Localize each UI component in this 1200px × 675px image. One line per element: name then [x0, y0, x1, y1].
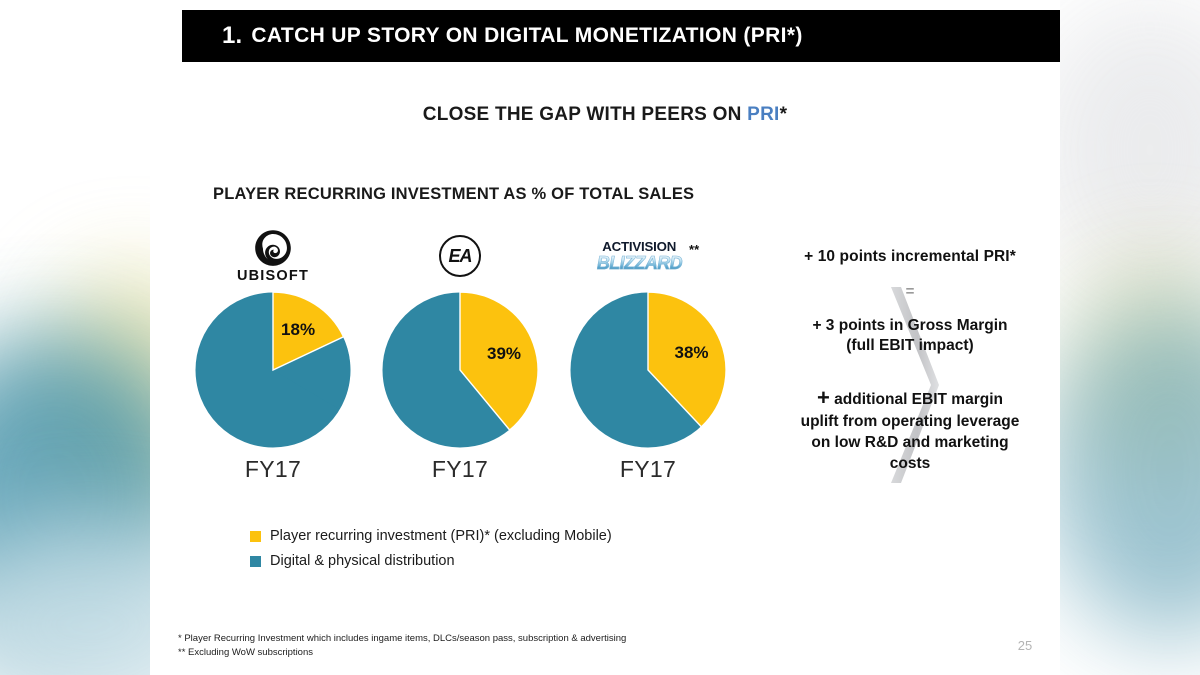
- pie-label-ea: 39%: [487, 344, 521, 364]
- ubisoft-swirl-icon: [254, 229, 292, 267]
- callout-line-1: + 10 points incremental PRI*: [760, 248, 1060, 266]
- pie-chart-ubisoft: 18%: [178, 290, 368, 450]
- period-label-ea: FY17: [365, 456, 555, 483]
- callout-equals: =: [760, 283, 1060, 300]
- callout-line-3a-text: additional EBIT margin: [830, 391, 1003, 408]
- chart-section-title: PLAYER RECURRING INVESTMENT AS % OF TOTA…: [213, 185, 694, 204]
- subtitle-asterisk: *: [780, 104, 788, 125]
- pie-chart-ea: 39%: [365, 290, 555, 450]
- legend-item-distribution: Digital & physical distribution: [250, 553, 612, 569]
- legend-swatch-pri: [250, 531, 261, 542]
- pie-chart-activision-blizzard: 38%: [553, 290, 743, 450]
- chart-legend: Player recurring investment (PRI)* (excl…: [250, 528, 612, 578]
- callout-line-2a: + 3 points in Gross Margin: [760, 316, 1060, 336]
- ea-logo-text: EA: [448, 246, 471, 267]
- pie-label-ubisoft: 18%: [281, 320, 315, 340]
- legend-item-pri: Player recurring investment (PRI)* (excl…: [250, 528, 612, 544]
- slide-number: 1.: [222, 24, 242, 48]
- callout-line-2b: (full EBIT impact): [760, 336, 1060, 356]
- period-label-activision-blizzard: FY17: [553, 456, 743, 483]
- activision-blizzard-logo: ACTIVISION BLIZZARD **: [553, 228, 743, 284]
- callout-panel: + 10 points incremental PRI* = + 3 point…: [760, 248, 1060, 474]
- period-label-ubisoft: FY17: [178, 456, 368, 483]
- legend-label-distribution: Digital & physical distribution: [270, 553, 455, 569]
- subtitle-highlight: PRI: [747, 104, 779, 125]
- slide-title: CATCH UP STORY ON DIGITAL MONETIZATION (…: [251, 25, 802, 47]
- slide-header-bar: 1. CATCH UP STORY ON DIGITAL MONETIZATIO…: [182, 10, 1060, 62]
- slide: 1. CATCH UP STORY ON DIGITAL MONETIZATIO…: [150, 0, 1060, 675]
- blizzard-logo-text: BLIZZARD: [597, 254, 682, 272]
- pie-svg-ubisoft: [193, 290, 353, 450]
- callout-plus-symbol: +: [817, 385, 830, 410]
- company-column-ubisoft: UBISOFT 18% FY17: [178, 228, 368, 483]
- company-column-ea: EA 39% FY17: [365, 228, 555, 483]
- ubisoft-logo-text: UBISOFT: [237, 268, 309, 284]
- callout-line-3c: on low R&D and marketing: [760, 433, 1060, 454]
- callout-line-3d: costs: [760, 454, 1060, 475]
- ubisoft-logo: UBISOFT: [178, 228, 368, 284]
- callout-line-3a: + additional EBIT margin: [760, 383, 1060, 412]
- activision-logo-text: ACTIVISION: [603, 240, 677, 253]
- legend-swatch-distribution: [250, 556, 261, 567]
- legend-label-pri: Player recurring investment (PRI)* (excl…: [270, 528, 612, 544]
- pie-svg-ea: [380, 290, 540, 450]
- footnotes: * Player Recurring Investment which incl…: [178, 632, 626, 660]
- ea-logo: EA: [365, 228, 555, 284]
- pie-chart-group: UBISOFT 18% FY17 EA: [178, 228, 738, 498]
- slide-subtitle: CLOSE THE GAP WITH PEERS ON PRI*: [150, 104, 1060, 126]
- subtitle-prefix: CLOSE THE GAP WITH PEERS ON: [423, 104, 747, 125]
- callout-line-3b: uplift from operating leverage: [760, 412, 1060, 433]
- page-number: 25: [1005, 638, 1045, 653]
- pie-label-activision-blizzard: 38%: [674, 343, 708, 363]
- footnote-1: * Player Recurring Investment which incl…: [178, 632, 626, 646]
- pie-svg-activision-blizzard: [568, 290, 728, 450]
- company-column-activision-blizzard: ACTIVISION BLIZZARD ** 38% FY17: [553, 228, 743, 483]
- footnote-2: ** Excluding WoW subscriptions: [178, 646, 626, 660]
- backdrop-blur-teal-right: [1045, 300, 1200, 640]
- activision-footnote-marker: **: [689, 242, 699, 257]
